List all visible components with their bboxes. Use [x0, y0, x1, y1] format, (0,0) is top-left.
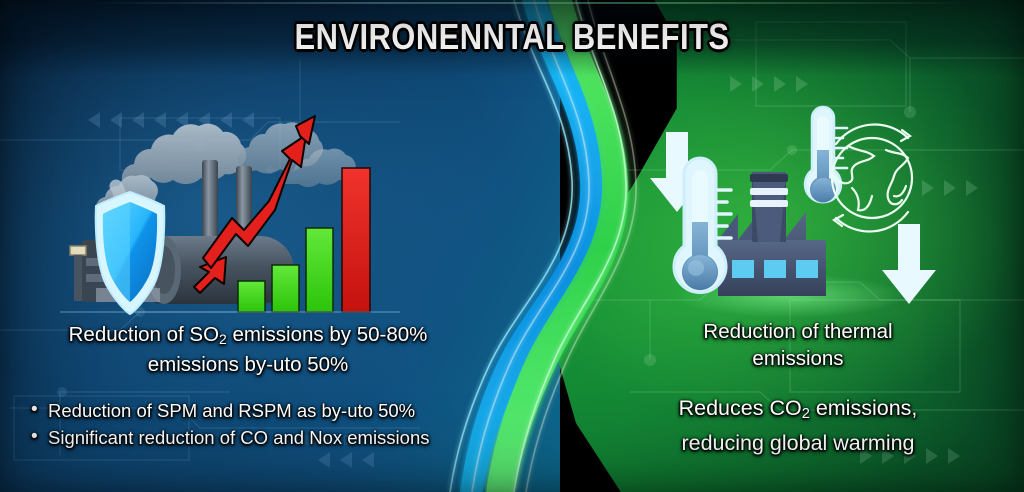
thermometer-factory-globe-illustration	[640, 100, 940, 320]
header-accent-line	[90, 2, 970, 4]
right-line3-b: emissions,	[810, 396, 918, 420]
right-line4: reducing global warming	[681, 431, 914, 455]
right-line3-a: Reduces CO	[679, 396, 802, 420]
left-lead-line1-b: emissions by 50-80%	[227, 323, 428, 346]
so2-subscript: 2	[219, 331, 227, 347]
left-lead-text: Reduction of SO2 emissions by 50-80% emi…	[22, 322, 474, 377]
infographic-slide: ENVIRONENNTAL BENEFITS Reduction of SO2 …	[0, 0, 1024, 492]
left-text-block: Reduction of SO2 emissions by 50-80% emi…	[22, 322, 474, 451]
factory-shield-chart-illustration	[60, 88, 400, 320]
co2-subscript: 2	[802, 406, 810, 422]
page-title: ENVIRONENNTAL BENEFITS	[72, 16, 953, 58]
right-line2: emissions	[752, 347, 843, 370]
list-item: Significant reduction of CO and Nox emis…	[48, 424, 474, 451]
right-line1: Reduction of thermal	[703, 320, 892, 343]
left-lead-line2: emissions by-uto 50%	[148, 353, 349, 376]
globe-icon	[832, 124, 912, 231]
left-lead-line1-a: Reduction of SO	[69, 323, 219, 346]
thermometer-icon	[674, 158, 731, 292]
right-text-paragraph-1: Reduction of thermal emissions	[588, 318, 1008, 372]
right-text-block: Reduction of thermal emissions Reduces C…	[588, 318, 1008, 458]
list-item: Reduction of SPM and RSPM as by-uto 50%	[48, 397, 474, 424]
left-bullet-list: Reduction of SPM and RSPM as by-uto 50% …	[22, 397, 474, 451]
right-text-paragraph-2: Reduces CO2 emissions, reducing global w…	[588, 394, 1008, 458]
